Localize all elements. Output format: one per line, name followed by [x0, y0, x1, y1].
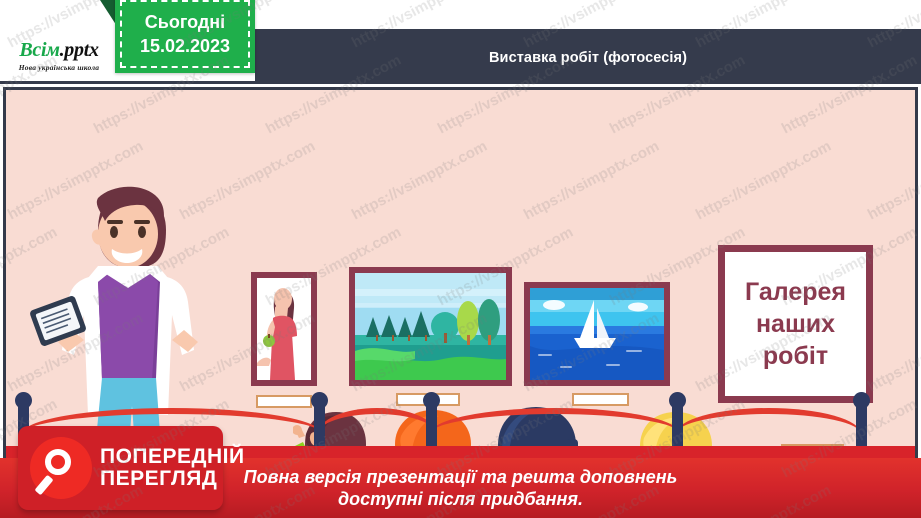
page-title: Виставка робіт (фотосесія) — [489, 50, 687, 66]
portrait-painting-art — [257, 278, 311, 380]
artwork-plaque-1 — [256, 395, 312, 408]
logo-wordmark-prefix: Всім — [19, 39, 59, 61]
logo-subtitle: Нова українська школа — [19, 63, 100, 72]
purchase-notice-line-1: Повна версія презентації та решта доповн… — [244, 466, 678, 489]
brand-logo[interactable]: Всім.pptx Нова українська школа — [0, 29, 118, 81]
presentation-slide: Всім.pptx Нова українська школа Сьогодні… — [0, 0, 921, 518]
purchase-notice-text: Повна версія презентації та решта доповн… — [244, 466, 678, 511]
gallery-sign-text: Галерея наших робіт — [725, 252, 866, 396]
preview-badge-label: ПОПЕРЕДНІЙ ПЕРЕГЛЯД — [100, 446, 245, 490]
gallery-sign-line-2: наших — [756, 308, 835, 340]
date-badge-label: Сьогодні — [145, 10, 225, 34]
preview-badge[interactable]: ПОПЕРЕДНІЙ ПЕРЕГЛЯД — [18, 426, 223, 510]
date-badge-date: 15.02.2023 — [140, 34, 230, 58]
magnifier-icon — [30, 437, 92, 499]
purchase-notice-line-2: доступні після придбання. — [244, 488, 678, 511]
gallery-sign[interactable]: Галерея наших робіт — [718, 245, 873, 403]
magnifier-icon-lens — [45, 449, 71, 475]
landscape-painting[interactable] — [349, 267, 512, 386]
gallery-sign-line-3: робіт — [763, 340, 828, 372]
portrait-painting[interactable] — [251, 272, 317, 386]
magnifier-icon-handle — [35, 475, 54, 495]
sailboat-painting[interactable] — [524, 282, 670, 386]
preview-badge-line-1: ПОПЕРЕДНІЙ — [100, 446, 245, 468]
landscape-painting-art — [355, 273, 506, 380]
preview-badge-line-2: ПЕРЕГЛЯД — [100, 468, 245, 490]
sailboat-painting-art — [530, 288, 664, 380]
logo-wordmark-suffix: .pptx — [60, 39, 99, 61]
logo-wordmark: Всім.pptx — [19, 39, 98, 62]
gallery-sign-line-1: Галерея — [745, 276, 846, 308]
slide-title-bar: Виставка робіт (фотосесія) — [255, 37, 921, 78]
header-band: Всім.pptx Нова українська школа Сьогодні… — [0, 0, 921, 84]
date-badge: Сьогодні 15.02.2023 — [115, 0, 255, 73]
